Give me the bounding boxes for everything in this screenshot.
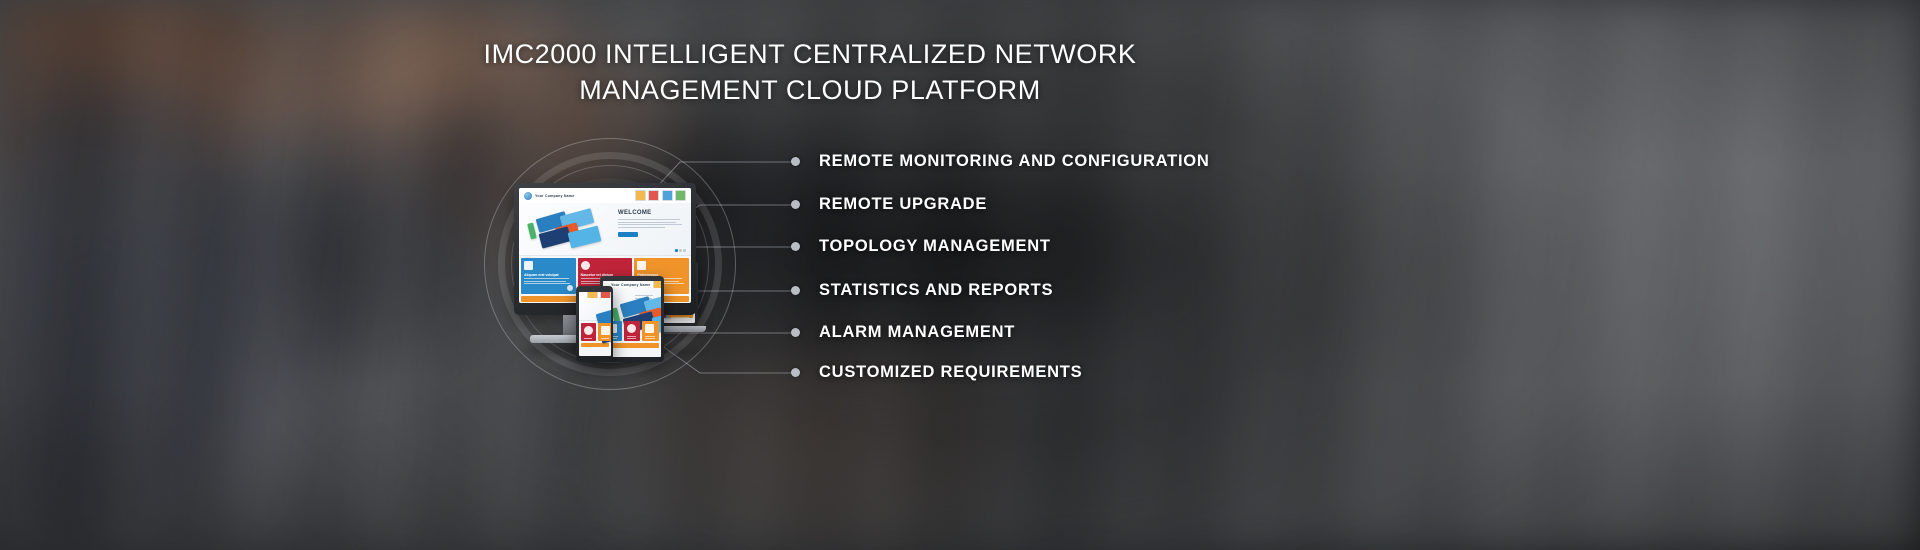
feature-label: TOPOLOGY MANAGEMENT (819, 237, 1051, 256)
feature-item-alarm-management[interactable]: ALARM MANAGEMENT (791, 323, 1015, 342)
bullet-dot-icon (791, 286, 800, 295)
bullet-dot-icon (791, 200, 800, 209)
feature-item-remote-upgrade[interactable]: REMOTE UPGRADE (791, 195, 987, 214)
feature-label: ALARM MANAGEMENT (819, 323, 1015, 342)
feature-item-topology-management[interactable]: TOPOLOGY MANAGEMENT (791, 237, 1051, 256)
feature-item-statistics-and-reports[interactable]: STATISTICS AND REPORTS (791, 281, 1053, 300)
bullet-dot-icon (791, 242, 800, 251)
feature-label: REMOTE MONITORING AND CONFIGURATION (819, 152, 1210, 171)
feature-label: CUSTOMIZED REQUIREMENTS (819, 363, 1082, 382)
feature-item-remote-monitoring-and-configuration[interactable]: REMOTE MONITORING AND CONFIGURATION (791, 152, 1210, 171)
feature-label: STATISTICS AND REPORTS (819, 281, 1053, 300)
feature-label: REMOTE UPGRADE (819, 195, 987, 214)
hero-banner: IMC2000 INTELLIGENT CENTRALIZED NETWORK … (0, 0, 1920, 550)
feature-item-customized-requirements[interactable]: CUSTOMIZED REQUIREMENTS (791, 363, 1082, 382)
bullet-dot-icon (791, 157, 800, 166)
bullet-dot-icon (791, 368, 800, 377)
feature-list: REMOTE MONITORING AND CONFIGURATION REMO… (0, 0, 1920, 550)
bullet-dot-icon (791, 328, 800, 337)
